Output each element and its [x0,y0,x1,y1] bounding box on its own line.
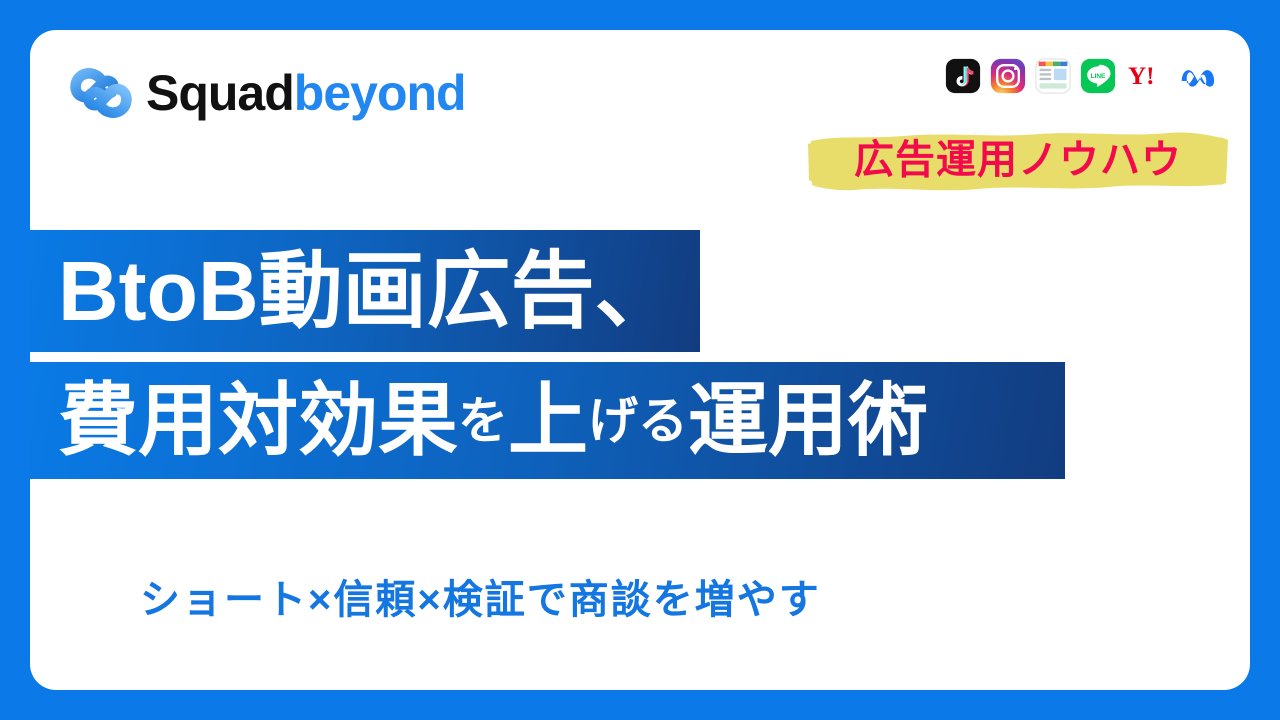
headline-line-2: 費用対効果を上げる運用術 [30,362,1065,479]
headline-line-2-part-1: 費用対効果 [58,381,458,461]
category-badge: 広告運用ノウハウ [808,128,1228,194]
headline-line-1-text: BtoB動画広告、 [58,249,679,333]
brand-logo[interactable]: Squadbeyond [70,62,466,124]
squad-beyond-infinity-mark [70,62,132,124]
yahoo-icon: Y! [1125,58,1167,94]
social-platform-icons: LINE Y! [945,58,1218,94]
svg-text:Y!: Y! [1128,63,1155,90]
headline-line-2-small-2: げる [588,396,688,446]
svg-text:LINE: LINE [1091,73,1106,80]
brand-word-primary: Squad [146,65,294,121]
slide-canvas: Squadbeyond [0,0,1280,720]
instagram-icon [990,58,1026,94]
content-card: Squadbeyond [30,30,1250,690]
tiktok-icon [945,58,981,94]
headline-line-2-part-2: 上 [508,381,588,461]
headline-line-2-small-1: を [458,396,508,446]
badge-label: 広告運用ノウハウ [808,128,1228,194]
subtitle: ショート×信頼×検証で商談を増やす [140,580,821,620]
headline-block: BtoB動画広告、 費用対効果を上げる運用術 [30,230,1250,479]
headline-line-1: BtoB動画広告、 [30,230,700,352]
brand-wordmark: Squadbeyond [146,68,466,118]
headline-line-2-part-3: 運用術 [688,381,928,461]
meta-icon [1176,58,1218,94]
smartnews-icon [1035,58,1071,94]
brand-word-secondary: beyond [294,65,466,121]
line-icon: LINE [1080,58,1116,94]
